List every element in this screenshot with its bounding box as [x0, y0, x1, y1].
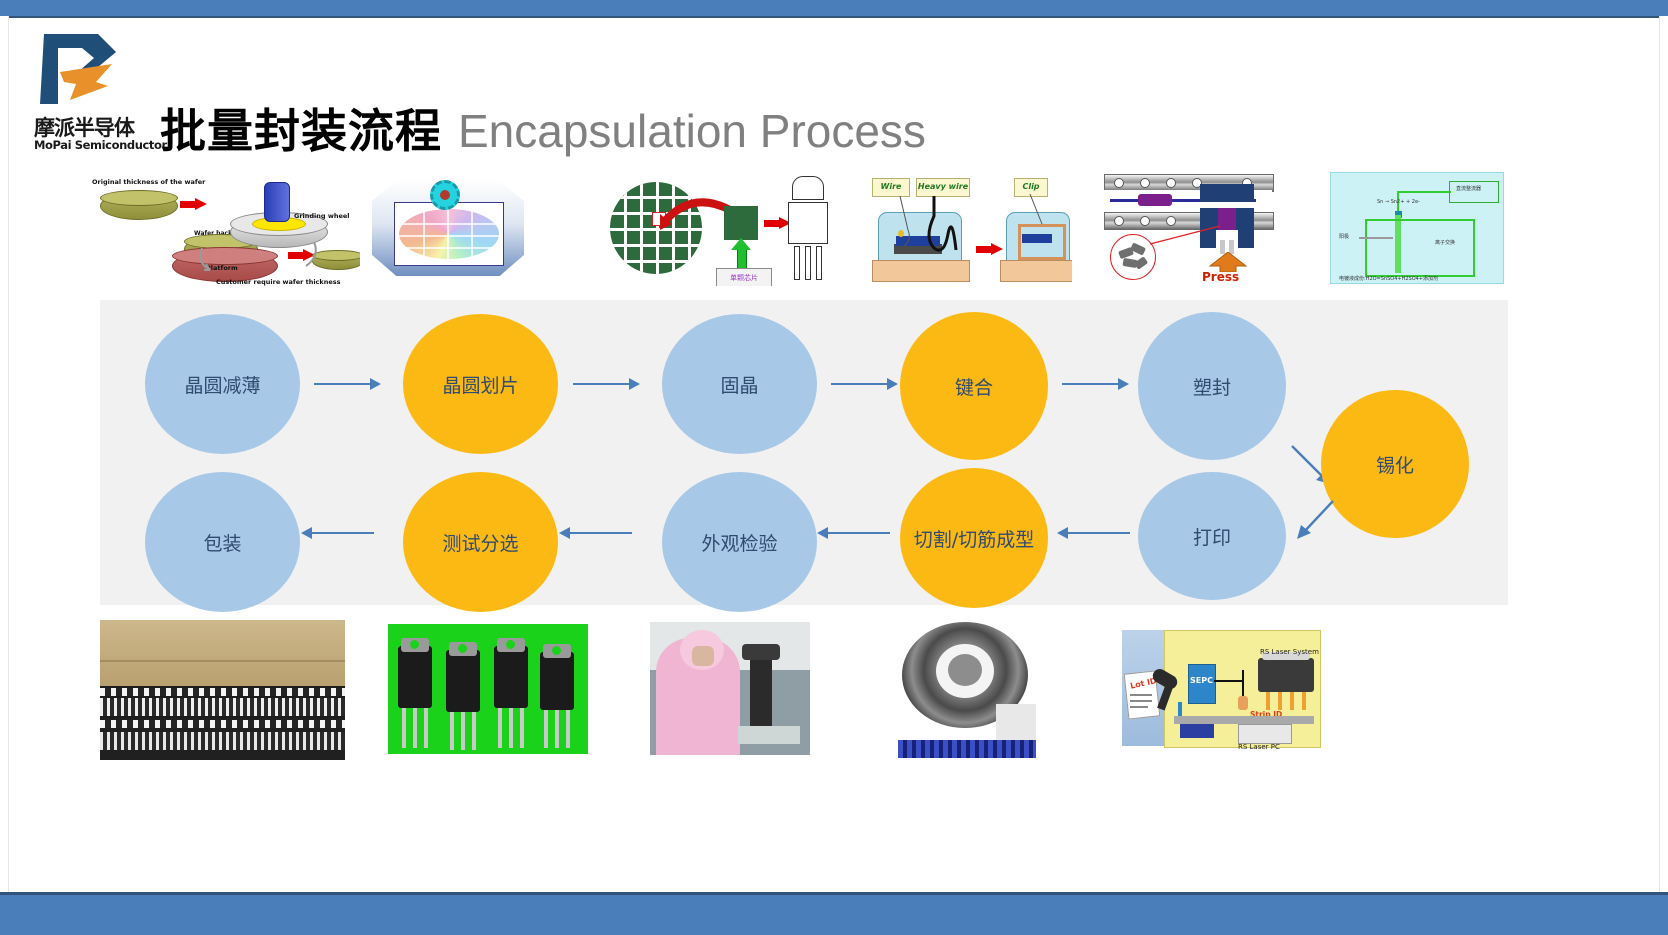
figure-die-attach: 单颗芯片 [604, 168, 842, 286]
press-label: Press [1202, 270, 1239, 284]
figure-tin-plating: 直流整流器 Sn → Sn2+ + 2e- 阳极 离子交换 电镀液成份:H2O=… [1330, 172, 1504, 284]
anode-reaction-label: Sn → Sn2+ + 2e- [1377, 199, 1420, 205]
pellet-leader-line-icon [1148, 224, 1226, 248]
process-flow-panel: 晶圆减薄 晶圆划片 固晶 键合 塑封 锡化 [100, 300, 1508, 605]
rainbow-wafer-icon [399, 209, 499, 259]
flow-arrow-4 [1118, 378, 1129, 390]
rectifier-label: 直流整流器 [1456, 185, 1481, 192]
flow-node-label: 打印 [1193, 523, 1231, 550]
flow-arrow-1 [370, 378, 381, 390]
flow-arrow-5 [1057, 527, 1068, 539]
figure-wire-bonding: Wire Heavy wire Clip [866, 172, 1072, 282]
saw-blade-icon [430, 180, 460, 210]
flow-arrow-from-tinning [1285, 495, 1355, 565]
company-logo: 摩派半导体 MoPai Semiconductor [20, 28, 138, 153]
photo-tape-and-reel-packaging [100, 620, 345, 760]
up-arrow-head-icon [731, 238, 751, 250]
slide-bottom-bar [0, 892, 1668, 935]
flow-node-label: 切割/切筋成型 [914, 525, 1034, 552]
leadframe-icon [786, 176, 828, 280]
flow-node-visual-inspection[interactable]: 外观检验 [662, 472, 817, 612]
rs-laser-system-label: RS Laser System [1260, 648, 1319, 656]
flow-arrow-3 [887, 378, 898, 390]
flow-node-trim-form[interactable]: 切割/切筋成型 [900, 468, 1048, 608]
top-figure-strip: Original thickness of the wafer Wafer ba… [0, 168, 1668, 288]
dicing-wafer-stage [394, 202, 504, 266]
flow-arrow-8 [301, 527, 312, 539]
sepc-label: SEPC [1190, 676, 1213, 685]
plating-solution-label: 电镀液成份:H2O=SnSO4+H2SO4+添加剂 [1339, 275, 1438, 282]
flow-arrow-2 [629, 378, 640, 390]
flow-node-wafer-dicing[interactable]: 晶圆划片 [403, 314, 558, 454]
flow-node-label: 外观检验 [701, 529, 777, 556]
bottom-photo-strip: Lot ID SEPC Strip ID RS Laser System RS … [0, 618, 1668, 798]
single-die-callout: 单颗芯片 [716, 268, 772, 286]
single-die-icon [724, 206, 758, 240]
ion-exchange-label: 离子交换 [1435, 239, 1455, 246]
photo-laser-marking-system: Lot ID SEPC Strip ID RS Laser System RS … [1118, 624, 1323, 752]
flow-node-label: 塑封 [1193, 373, 1231, 400]
rotate-arrow-icon-2 [284, 238, 324, 278]
flow-node-label: 测试分选 [442, 529, 518, 556]
bond-wire-paths-icon [878, 194, 966, 258]
rectifier-box: 直流整流器 [1449, 181, 1499, 203]
single-die-callout-label: 单颗芯片 [717, 269, 771, 286]
flow-node-marking[interactable]: 打印 [1138, 472, 1286, 600]
flow-node-label: 固晶 [720, 371, 758, 398]
figure-label-customer-thickness: Customer require wafer thickness [216, 278, 341, 286]
flow-node-label: 锡化 [1376, 451, 1414, 478]
figure-label-original-thickness: Original thickness of the wafer [92, 178, 205, 186]
flow-node-bonding[interactable]: 键合 [900, 312, 1048, 460]
anode-label: 阳极 [1339, 233, 1349, 240]
flow-node-wafer-thinning[interactable]: 晶圆减薄 [145, 314, 300, 454]
page-title-en: Encapsulation Process [458, 104, 926, 158]
flow-node-label: 键合 [955, 373, 993, 400]
slide-top-bar [0, 0, 1668, 18]
flow-node-label: 包装 [203, 529, 241, 556]
figure-label-grinding-wheel: Grinding wheel [294, 212, 350, 220]
clip-leader-line-icon [1016, 194, 1056, 230]
flow-node-die-attach[interactable]: 固晶 [662, 314, 817, 454]
page-title: 批量封装流程 Encapsulation Process [160, 95, 926, 161]
flow-node-label: 晶圆划片 [442, 371, 518, 398]
callout-clip-label: Clip [1015, 179, 1047, 194]
photo-cleanroom-operator [650, 622, 810, 755]
photo-to220-packages [388, 624, 588, 754]
figure-wafer-grinding: Original thickness of the wafer Wafer ba… [88, 168, 360, 286]
photo-trim-form-tooling [896, 618, 1036, 760]
mopai-p-arrow-mark-icon [20, 28, 138, 108]
callout-wire-label: Wire [873, 179, 909, 194]
logo-company-name-en: MoPai Semiconductor [34, 138, 167, 152]
figure-wafer-dicing [372, 172, 524, 282]
figure-molding-press: Press [1096, 168, 1286, 286]
flow-arrow-6 [817, 527, 828, 539]
callout-heavy-wire-label: Heavy wire [917, 179, 969, 194]
flow-arrow-7 [559, 527, 570, 539]
flow-node-molding[interactable]: 塑封 [1138, 312, 1286, 460]
slide-canvas: 摩派半导体 MoPai Semiconductor 批量封装流程 Encapsu… [0, 0, 1668, 935]
rotate-arrow-icon [196, 244, 256, 278]
flow-node-test-sorting[interactable]: 测试分选 [403, 472, 558, 612]
page-title-cn: 批量封装流程 [160, 95, 442, 161]
flow-node-packaging[interactable]: 包装 [145, 472, 300, 612]
rs-laser-pc-label: RS Laser PC [1238, 743, 1280, 751]
flow-node-label: 晶圆减薄 [184, 371, 260, 398]
press-up-arrow-icon [1208, 252, 1248, 272]
